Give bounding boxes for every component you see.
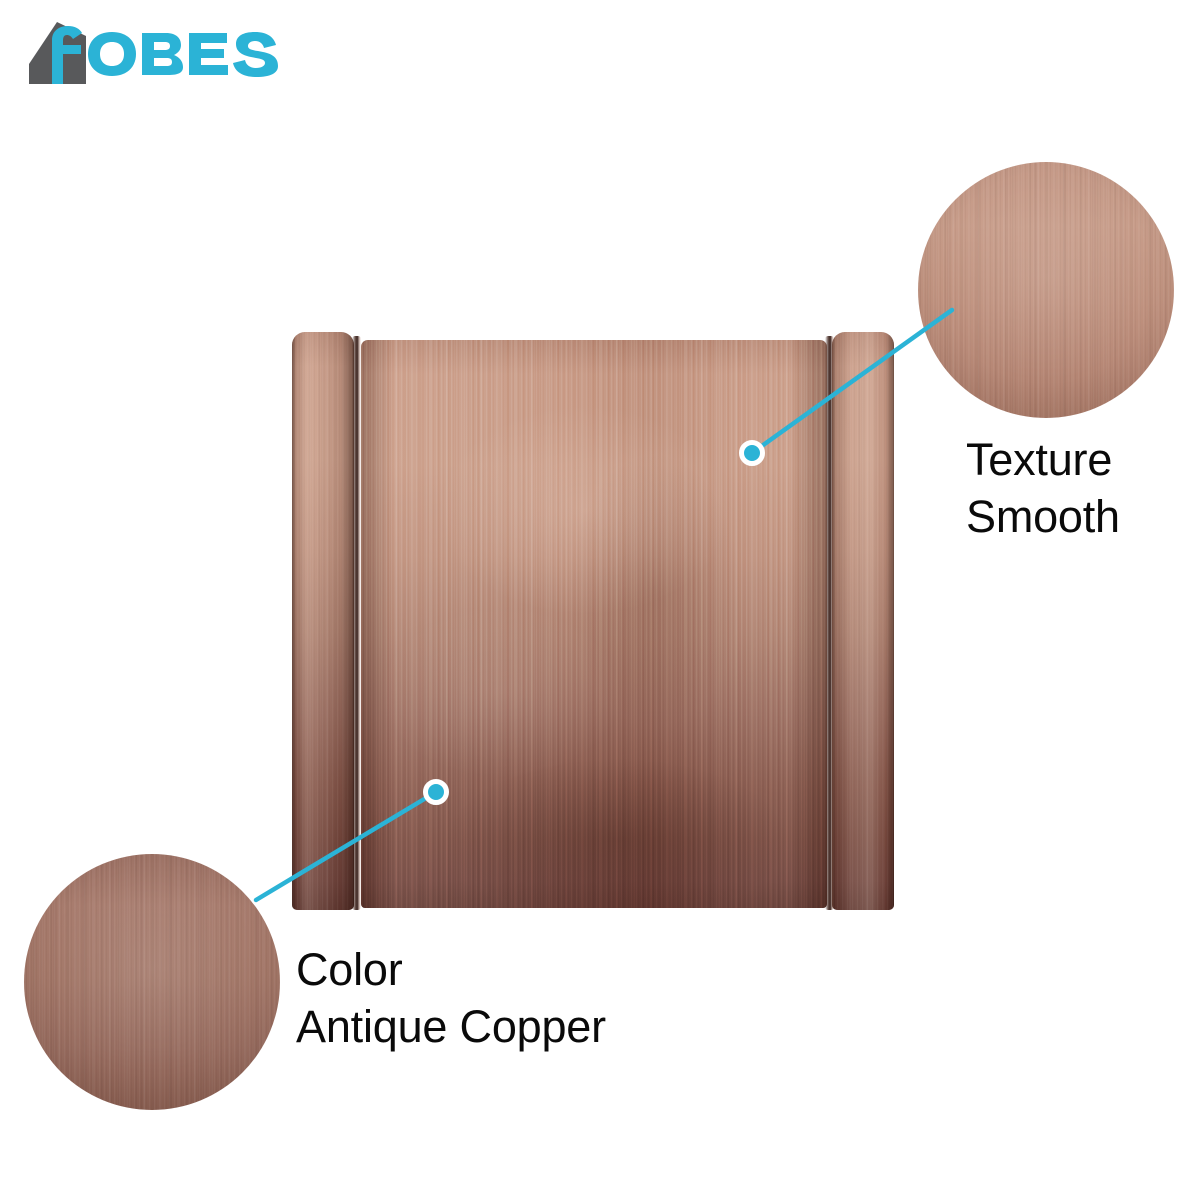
color-label-line-1: Color xyxy=(296,942,606,999)
front-face-panel xyxy=(361,340,827,908)
brand-logo xyxy=(24,22,284,84)
fobest-logo-svg xyxy=(24,22,282,84)
edge-shading-left xyxy=(292,332,354,910)
product-feature-image: Texture Smooth Color Antique Copper xyxy=(0,0,1200,1200)
logo-wordmark xyxy=(88,32,278,77)
callout-label-texture: Texture Smooth xyxy=(966,432,1120,545)
product-image xyxy=(292,332,894,912)
seam-left xyxy=(352,336,361,910)
callout-label-color: Color Antique Copper xyxy=(296,942,606,1055)
edge-shading-right xyxy=(832,332,894,910)
seam-right xyxy=(825,336,834,910)
color-detail-swatch xyxy=(24,854,280,1110)
callout-dot-color xyxy=(423,779,449,805)
brush-texture-face xyxy=(361,340,827,908)
texture-label-line-1: Texture xyxy=(966,432,1120,489)
texture-label-line-2: Smooth xyxy=(966,489,1120,546)
color-swatch-vignette xyxy=(24,854,280,1110)
color-label-line-2: Antique Copper xyxy=(296,999,606,1056)
left-side-panel xyxy=(292,332,354,910)
callout-dot-texture xyxy=(739,440,765,466)
texture-swatch-vignette xyxy=(918,162,1174,418)
texture-detail-swatch xyxy=(918,162,1174,418)
right-side-panel xyxy=(832,332,894,910)
